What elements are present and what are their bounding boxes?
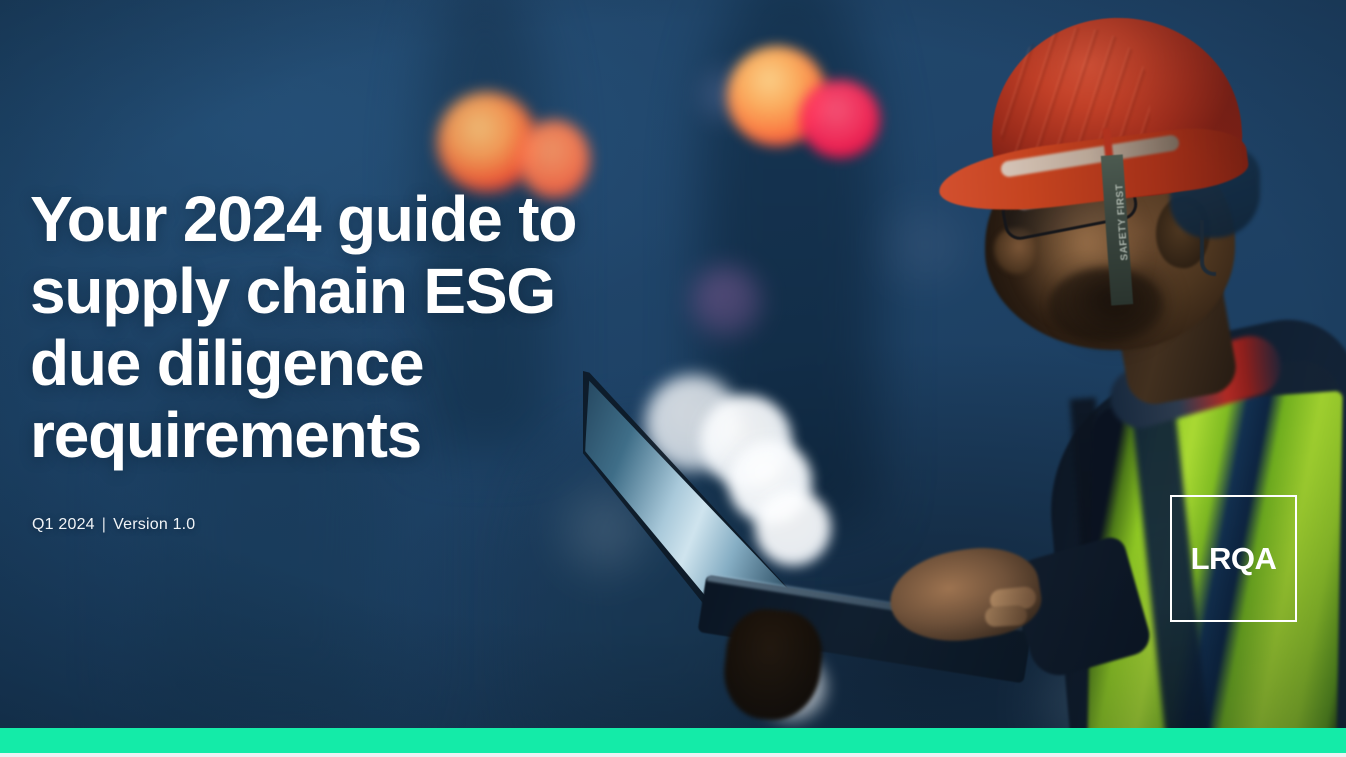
footer-accent-bar xyxy=(0,728,1346,753)
lrqa-wordmark: LRQA xyxy=(1191,543,1277,574)
report-cover-page: SAFETY FIRST Your 2024 guide to supply c… xyxy=(0,0,1346,757)
worker-finger xyxy=(985,605,1028,627)
page-title: Your 2024 guide to supply chain ESG due … xyxy=(30,183,670,471)
hard-hat-clip xyxy=(1200,220,1216,276)
meta-version: Version 1.0 xyxy=(113,516,195,533)
lrqa-logo: LRQA xyxy=(1170,495,1297,622)
meta-quarter: Q1 2024 xyxy=(32,516,95,533)
meta-separator: | xyxy=(95,516,113,533)
document-meta: Q1 2024|Version 1.0 xyxy=(32,516,195,534)
footer-bottom-strip xyxy=(0,753,1346,757)
worker-hand-left xyxy=(720,605,827,724)
